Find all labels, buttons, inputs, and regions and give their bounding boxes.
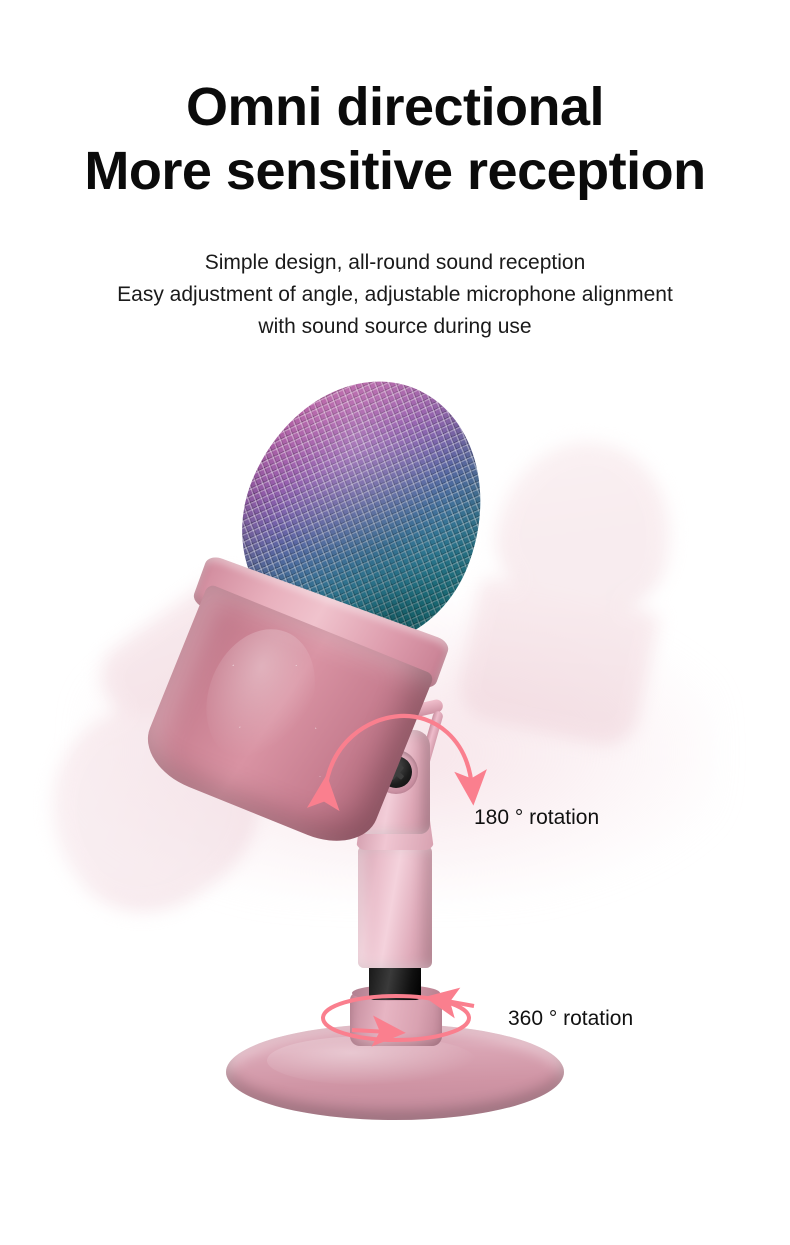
subtitle-line-1: Simple design, all-round sound reception	[0, 247, 790, 279]
headline-line-1: Omni directional	[0, 78, 790, 136]
stand-stem	[358, 846, 432, 968]
product-stage	[0, 352, 790, 1212]
subtitle-line-2: Easy adjustment of angle, adjustable mic…	[0, 279, 790, 311]
product-feature-page: Omni directional More sensitive receptio…	[0, 0, 790, 1245]
headline-line-2: More sensitive reception	[0, 142, 790, 200]
subtitle-line-3: with sound source during use	[0, 311, 790, 343]
subtitle-block: Simple design, all-round sound reception…	[0, 247, 790, 343]
base-hub	[350, 992, 442, 1046]
callout-180-rotation: 180 ° rotation	[474, 806, 599, 830]
callout-360-rotation: 360 ° rotation	[508, 1007, 633, 1031]
page-title: Omni directional More sensitive receptio…	[0, 78, 790, 201]
